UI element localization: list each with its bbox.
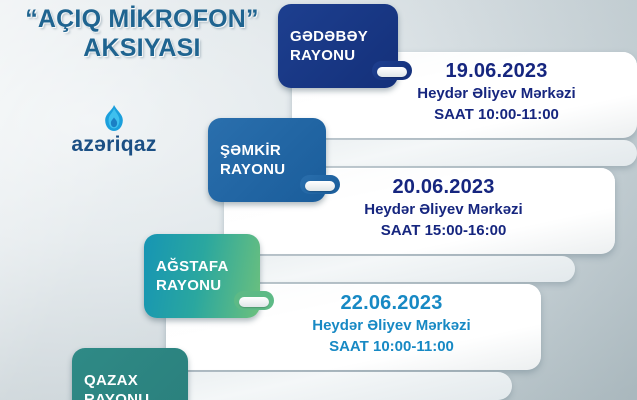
poster-canvas: “AÇIQ MİKROFON” AKSIYASI azəriqaz 19.06.… xyxy=(0,0,637,400)
connector-notch-inner-1 xyxy=(377,67,407,77)
connector-notch-inner-3 xyxy=(239,297,269,307)
page-title-line-1: “AÇIQ MİKROFON” xyxy=(8,6,276,33)
region-tag-gadabay[interactable]: GƏDƏBƏY RAYONU xyxy=(278,4,398,88)
schedule-time-3: SAAT 10:00-11:00 xyxy=(252,337,531,357)
schedule-venue-3: Heydər Əliyev Mərkəzi xyxy=(252,315,531,337)
schedule-card-placeholder-3 xyxy=(140,372,512,400)
flame-icon xyxy=(101,104,127,132)
schedule-date-3: 22.06.2023 xyxy=(252,292,531,315)
region-tag-agstafa[interactable]: AĞSTAFA RAYONU xyxy=(144,234,260,318)
region-tag-gadabay-line-1: GƏDƏBƏY xyxy=(290,27,398,46)
brand-logo: azəriqaz xyxy=(48,104,180,155)
region-tag-shamkir[interactable]: ŞƏMKİR RAYONU xyxy=(208,118,326,202)
region-tag-qazax-line-1: QAZAX xyxy=(84,371,188,390)
region-tag-shamkir-line-1: ŞƏMKİR xyxy=(220,141,326,160)
region-tag-agstafa-line-1: AĞSTAFA xyxy=(156,257,260,276)
schedule-time-1: SAAT 10:00-11:00 xyxy=(366,105,627,125)
brand-wordmark: azəriqaz xyxy=(48,134,180,155)
schedule-venue-1: Heydər Əliyev Mərkəzi xyxy=(366,83,627,105)
connector-notch-inner-2 xyxy=(305,181,335,191)
region-tag-qazax[interactable]: QAZAX RAYONU xyxy=(72,348,188,400)
page-title: “AÇIQ MİKROFON” AKSIYASI xyxy=(8,6,276,62)
schedule-venue-2: Heydər Əliyev Mərkəzi xyxy=(282,199,605,221)
schedule-time-2: SAAT 15:00-16:00 xyxy=(282,221,605,241)
region-tag-qazax-line-2: RAYONU xyxy=(84,390,188,400)
page-title-line-2: AKSIYASI xyxy=(8,35,276,62)
